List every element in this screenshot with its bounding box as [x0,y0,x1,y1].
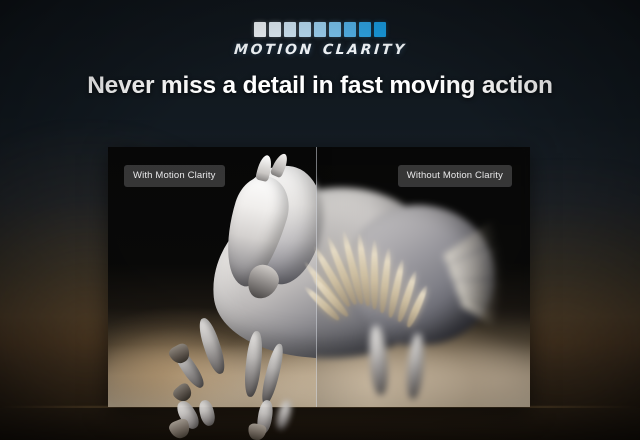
swatch-5 [314,22,326,37]
swatch-8 [359,22,371,37]
tail-strand-blurred [456,287,502,298]
tail-strand-blurred [450,260,502,274]
swatch-7 [344,22,356,37]
swatch-3 [284,22,296,37]
comparison-divider [316,147,317,407]
mane-strand-blurred [356,232,372,306]
horse-body-blurred [316,177,450,370]
tail-strand-blurred [461,303,496,326]
mane-strand-blurred [379,247,393,313]
brand-word-clarity: CLARITY [322,42,407,58]
horse-mane-blurred [318,255,436,333]
swatch-9 [374,22,386,37]
horse-leg-blurred [405,332,426,399]
horse-hindquarters-blurred [340,201,497,349]
mane-strand-blurred [371,239,378,309]
tail-strand-blurred [459,297,499,316]
mane-strand-blurred [316,284,341,322]
swatch-4 [299,22,311,37]
tail-strand-blurred [448,253,501,271]
horse-neck-blurred [316,157,333,290]
page-title: Never miss a detail in fast moving actio… [0,72,640,100]
comparison-panel: With Motion Clarity Without Motion Clari… [108,147,530,407]
tail-strand-blurred [457,290,501,304]
tail-strand-blurred [455,284,502,292]
comparison-frame: With Motion Clarity Without Motion Clari… [108,147,530,407]
tail-strand-blurred [447,245,500,268]
brand-wordmark: MOTION CLARITY [233,42,407,58]
mane-strand-blurred [387,258,406,318]
promo-banner: MOTION CLARITY Never miss a detail in fa… [0,0,640,440]
mane-strand-blurred [405,284,430,329]
mane-strand-blurred [316,259,345,312]
dust-cloud-blurred [316,287,530,407]
tail-strand-blurred [460,300,497,321]
tail-strand-blurred [444,229,496,261]
swatch-1 [254,22,266,37]
label-with-motion-clarity: With Motion Clarity [124,165,225,187]
logo-swatch-row [254,22,386,37]
swatch-2 [269,22,281,37]
tail-strand-blurred [454,281,503,285]
tail-strand-blurred [443,222,494,258]
brand-word-motion: MOTION [233,42,314,58]
tail-strand-blurred [451,267,503,277]
tail-strand-blurred [458,293,500,310]
swatch-6 [329,22,341,37]
mane-strand-blurred [316,244,352,308]
tail-strand-blurred [452,275,502,281]
tail-strand-blurred [446,237,499,264]
horse-leg-blurred [368,324,390,395]
floor-band [0,408,640,440]
label-without-motion-clarity: Without Motion Clarity [398,165,512,187]
mane-strand-blurred [340,229,365,304]
mane-strand-blurred [396,269,419,323]
mane-strand-blurred [316,274,350,319]
mane-strand-blurred [324,234,358,305]
brand-logo: MOTION CLARITY [0,22,640,58]
